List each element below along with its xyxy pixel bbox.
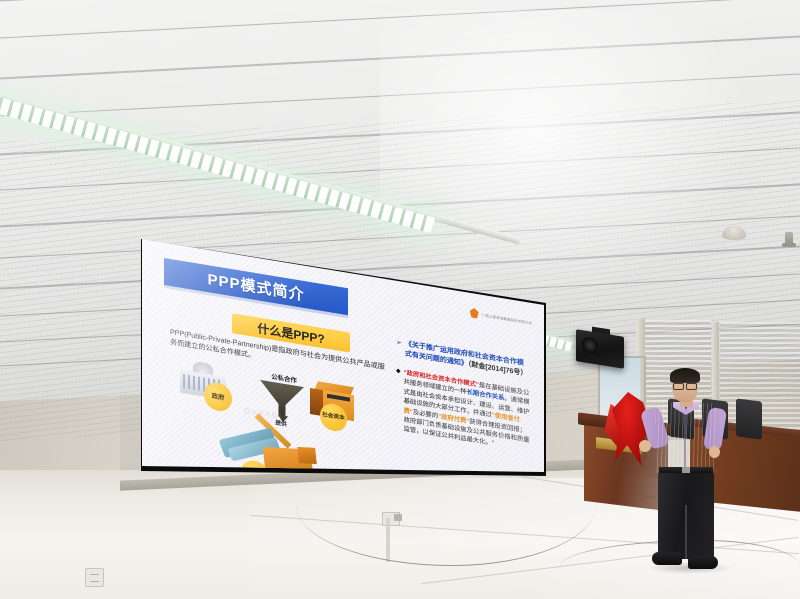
road-icon	[223, 473, 316, 484]
presenter-left-shoe	[652, 552, 682, 565]
chair-3	[736, 398, 762, 439]
eyeglasses-icon	[673, 382, 697, 388]
presenter-right-shoe	[688, 556, 718, 569]
presenter-hair	[670, 368, 700, 383]
conference-room-scene: 广西工程咨询集团股份有限公司 PPP模式简介 什么是PPP? PPP(Publi…	[0, 0, 800, 599]
presenter-left-hand	[639, 440, 651, 452]
presenter-belt-buckle	[682, 467, 690, 473]
presenter-right-hand	[709, 446, 720, 458]
slide-surface[interactable]: 广西工程咨询集团股份有限公司 PPP模式简介 什么是PPP? PPP(Publi…	[140, 236, 546, 484]
slide-glare	[140, 236, 546, 484]
